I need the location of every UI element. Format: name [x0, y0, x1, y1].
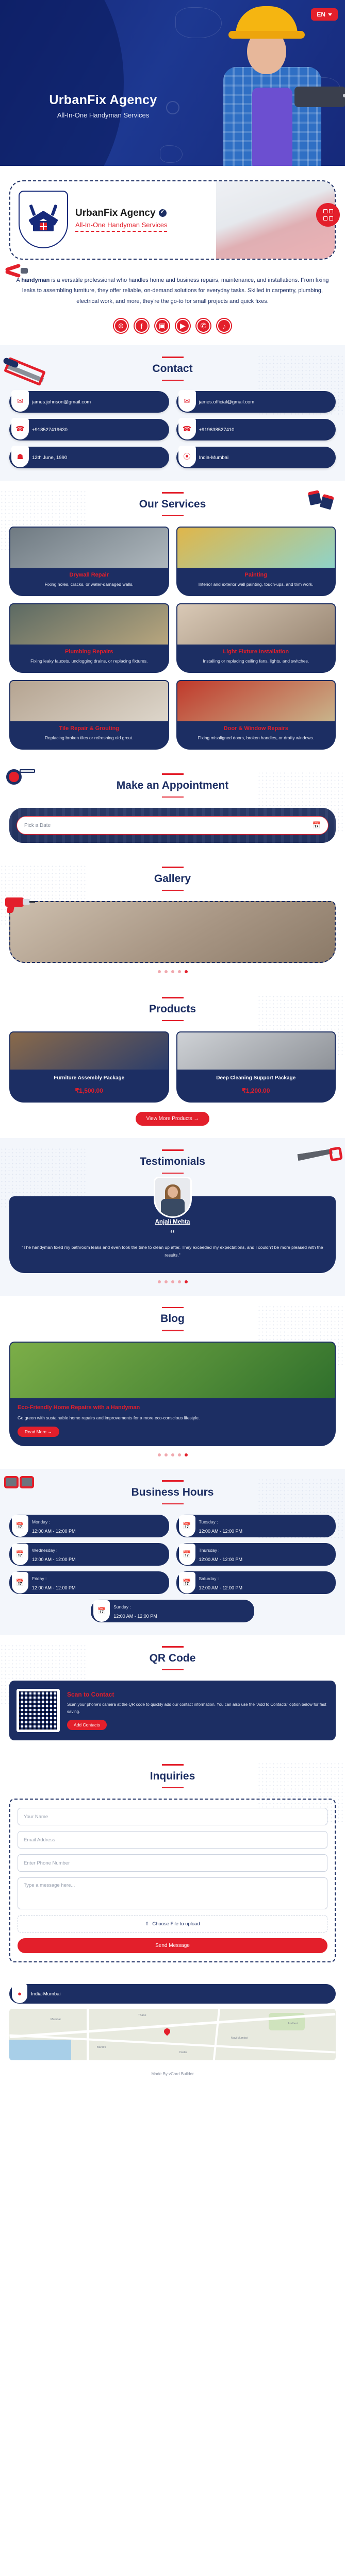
grid-cell-icon [323, 209, 327, 213]
upload-icon: ⇧ [145, 1921, 149, 1927]
chevron-down-icon [328, 13, 332, 16]
product-image [10, 1032, 168, 1070]
hours-day: Wednesday : [32, 1548, 57, 1553]
service-card[interactable]: Painting Interior and exterior wall pain… [176, 527, 336, 596]
services-section: Our Services Drywall Repair Fixing holes… [0, 481, 345, 762]
about-text: A handyman is a versatile professional w… [17, 277, 329, 304]
testimonial-author: Anjali Mehta [20, 1219, 325, 1225]
contact-item-phone-secondary[interactable]: ☎ +919638527410 [176, 419, 336, 440]
map-marker-icon [163, 2027, 172, 2036]
inquiries-heading: Inquiries [9, 1764, 336, 1788]
contact-heading: Contact [9, 357, 336, 381]
service-desc: Interior and exterior wall painting, tou… [182, 581, 331, 588]
hours-day: Monday : [32, 1519, 50, 1524]
grid-cell-icon [323, 216, 327, 221]
hours-row: 📅 Tuesday : 12:00 AM - 12:00 PM [176, 1515, 336, 1537]
business-hours-heading: Business Hours [9, 1480, 336, 1504]
product-name: Deep Cleaning Support Package [182, 1075, 331, 1082]
calendar-clock-icon: 📅 [179, 1515, 195, 1537]
testimonials-pagination[interactable] [9, 1280, 336, 1283]
services-heading: Our Services [9, 492, 336, 516]
profile-card-section: UrbanFix Agency All-In-One Handyman Serv… [0, 166, 345, 268]
facebook-icon[interactable]: f [134, 318, 150, 334]
testimonials-heading: Testimonials [9, 1149, 336, 1174]
contact-item-phone-primary[interactable]: ☎ +918527419630 [9, 419, 169, 440]
hours-time: 12:00 AM - 12:00 PM [199, 1557, 243, 1562]
hero-worker-photo [195, 0, 345, 166]
map-label: Mumbai [51, 2018, 61, 2021]
map-location-label: India-Mumbai [31, 1991, 61, 1997]
services-list: Drywall Repair Fixing holes, cracks, or … [9, 527, 336, 750]
drill-icon [5, 895, 35, 913]
brand-tagline: All-In-One Handyman Services [75, 221, 167, 232]
service-title: Drywall Repair [15, 572, 163, 578]
map-label: Bandra [97, 2046, 106, 2049]
qr-code-image[interactable] [17, 1689, 60, 1732]
quote-icon: “ [20, 1228, 325, 1239]
pagination-dot[interactable] [165, 970, 168, 973]
verified-badge-icon [159, 209, 167, 217]
phone-icon: ☎ [11, 418, 29, 439]
products-list: Furniture Assembly Package ₹1,500.00 Dee… [9, 1031, 336, 1103]
page-title: UrbanFix Agency [0, 93, 206, 108]
calendar-clock-icon: 📅 [12, 1572, 28, 1594]
contact-item-email-primary[interactable]: ✉ james.johnson@gmail.com [9, 391, 169, 413]
date-picker[interactable]: Pick a Date 📅 [17, 816, 328, 835]
whatsapp-icon[interactable]: ✆ [195, 318, 211, 334]
map-label: Navi Mumbai [231, 2037, 248, 2040]
product-image [177, 1032, 335, 1070]
hammer-icon [29, 205, 36, 216]
hours-time: 12:00 AM - 12:00 PM [199, 1585, 243, 1590]
qr-card: Scan to Contact Scan your phone's camera… [9, 1681, 336, 1740]
hero-banner: EN UrbanFix Agency All-In-One Handyman S… [0, 0, 345, 166]
hours-row: 📅 Sunday : 12:00 AM - 12:00 PM [91, 1600, 254, 1622]
service-image [177, 528, 335, 568]
youtube-icon[interactable]: ▶ [175, 318, 191, 334]
pagination-dot-active[interactable] [185, 1280, 188, 1283]
appointment-section: Make an Appointment Pick a Date 📅 [0, 762, 345, 855]
tape-measure-icon [3, 767, 35, 788]
hours-time: 12:00 AM - 12:00 PM [32, 1585, 76, 1590]
pagination-dot[interactable] [165, 1453, 168, 1456]
work-gloves-icon [309, 491, 338, 513]
phone-icon: ☎ [178, 418, 196, 439]
map-label: Dadar [179, 2051, 187, 2054]
pagination-dot[interactable] [158, 1280, 161, 1283]
read-more-button[interactable]: Read More → [18, 1427, 59, 1437]
cake-icon: ☗ [11, 446, 29, 467]
service-title: Light Fixture Installation [182, 649, 331, 655]
pagination-dot[interactable] [171, 970, 174, 973]
language-selector[interactable]: EN [311, 8, 338, 21]
brand-name-row: UrbanFix Agency [75, 208, 167, 219]
send-message-button[interactable]: Send Message [18, 1938, 327, 1953]
map-label: Thane [138, 2014, 146, 2017]
service-image [177, 604, 335, 645]
instagram-icon[interactable]: ▣ [154, 318, 170, 334]
location-pin-icon: ● [12, 1984, 27, 2003]
pagination-dot[interactable] [171, 1280, 174, 1283]
pagination-dot[interactable] [171, 1453, 174, 1456]
calendar-icon[interactable]: 📅 [313, 821, 321, 829]
calendar-clock-icon: 📅 [179, 1572, 195, 1594]
location-pin-icon: ⦿ [178, 446, 196, 467]
avatar [154, 1177, 192, 1218]
product-card[interactable]: Deep Cleaning Support Package ₹1,200.00 [176, 1031, 336, 1103]
map-embed[interactable]: Mumbai Thane Navi Mumbai Bandra Dadar An… [9, 2009, 336, 2060]
brand-logo [19, 191, 68, 248]
pagination-dot[interactable] [158, 970, 161, 973]
qr-title: Scan to Contact [67, 1691, 328, 1698]
hours-day: Sunday : [113, 1604, 131, 1609]
hours-row: 📅 Thursday : 12:00 AM - 12:00 PM [176, 1543, 336, 1566]
pliers-icon [5, 265, 28, 278]
mail-icon: ✉ [11, 390, 29, 412]
hours-row: 📅 Monday : 12:00 AM - 12:00 PM [9, 1515, 169, 1537]
service-image [177, 681, 335, 721]
product-price: ₹1,200.00 [182, 1087, 331, 1094]
hours-day: Friday : [32, 1576, 46, 1581]
about-text-block: A handyman is a versatile professional w… [0, 268, 345, 310]
calendar-clock-icon: 📅 [12, 1515, 28, 1537]
pagination-dot[interactable] [178, 1453, 181, 1456]
hero-subtitle: All-In-One Handyman Services [0, 111, 206, 119]
hours-row: 📅 Friday : 12:00 AM - 12:00 PM [9, 1571, 169, 1594]
wrench-icon [51, 205, 57, 216]
pagination-dot-active[interactable] [185, 1453, 188, 1456]
qr-section: QR Code Scan to Contact Scan your phone'… [0, 1635, 345, 1753]
add-contacts-button[interactable]: Add Contacts [67, 1720, 107, 1730]
calendar-clock-icon: 📅 [93, 1600, 110, 1622]
inquiries-section: Inquiries Your Name Email Address Enter … [0, 1753, 345, 1975]
phone-input[interactable]: Enter Phone Number [18, 1854, 327, 1872]
pagination-dot[interactable] [178, 970, 181, 973]
pagination-dot[interactable] [158, 1453, 161, 1456]
contact-list: ✉ james.johnson@gmail.com ✉ james.offici… [9, 391, 336, 468]
name-input[interactable]: Your Name [18, 1808, 327, 1825]
map-label: Andheri [288, 2022, 298, 2025]
hero-decor-blob [160, 145, 183, 163]
mail-icon: ✉ [178, 390, 196, 412]
service-image [10, 681, 168, 721]
hours-time: 12:00 AM - 12:00 PM [32, 1557, 76, 1562]
handsaw-icon [298, 1145, 342, 1166]
hero-swirl [0, 0, 124, 166]
tiktok-icon[interactable]: ♪ [216, 318, 232, 334]
inquiry-form: Your Name Email Address Enter Phone Numb… [9, 1799, 336, 1962]
service-card[interactable]: Drywall Repair Fixing holes, cracks, or … [9, 527, 169, 596]
file-upload-field[interactable]: ⇧ Choose File to upload [18, 1915, 327, 1933]
profile-card: UrbanFix Agency All-In-One Handyman Serv… [9, 180, 336, 260]
service-image [10, 604, 168, 645]
service-card[interactable]: Tile Repair & Grouting Replacing broken … [9, 680, 169, 750]
product-card[interactable]: Furniture Assembly Package ₹1,500.00 [9, 1031, 169, 1103]
product-name: Furniture Assembly Package [14, 1075, 164, 1082]
hours-row: 📅 Wednesday : 12:00 AM - 12:00 PM [9, 1543, 169, 1566]
hours-row: 📅 Saturday : 12:00 AM - 12:00 PM [176, 1571, 336, 1594]
products-section: Products Furniture Assembly Package ₹1,5… [0, 986, 345, 1138]
qr-description: Scan your phone's camera at the QR code … [67, 1701, 328, 1715]
service-desc: Fixing misaligned doors, broken handles,… [182, 734, 331, 741]
contact-section: Contact ✉ james.johnson@gmail.com ✉ jame… [0, 345, 345, 481]
contact-item-email-secondary[interactable]: ✉ james.official@gmail.com [176, 391, 336, 413]
blog-post-card[interactable]: Eco-Friendly Home Repairs with a Handyma… [9, 1342, 336, 1446]
service-title: Door & Window Repairs [182, 725, 331, 732]
hours-time: 12:00 AM - 12:00 PM [32, 1529, 76, 1534]
service-card[interactable]: Light Fixture Installation Installing or… [176, 603, 336, 673]
blog-section: Blog Eco-Friendly Home Repairs with a Ha… [0, 1296, 345, 1469]
hero-text: UrbanFix Agency All-In-One Handyman Serv… [0, 93, 206, 119]
pagination-dot-active[interactable] [185, 970, 188, 973]
message-textarea[interactable]: Type a message here... [18, 1877, 327, 1909]
hours-time: 12:00 AM - 12:00 PM [199, 1529, 243, 1534]
service-image [10, 528, 168, 568]
menu-grid-button[interactable] [316, 203, 340, 227]
business-hours-section: Business Hours 📅 Monday : 12:00 AM - 12:… [0, 1469, 345, 1635]
date-placeholder: Pick a Date [24, 823, 51, 828]
view-more-products-button[interactable]: View More Products → [136, 1112, 209, 1126]
testimonials-section: Testimonials Anjali Mehta “ "The handyma… [0, 1138, 345, 1296]
website-icon[interactable]: ⊕ [113, 318, 129, 334]
gallery-image[interactable] [9, 901, 336, 963]
product-price: ₹1,500.00 [14, 1087, 164, 1094]
gallery-heading: Gallery [9, 867, 336, 891]
hours-day: Tuesday : [199, 1519, 218, 1524]
service-desc: Replacing broken tiles or refreshing old… [15, 734, 163, 741]
blog-image [10, 1343, 335, 1398]
appointment-box: Pick a Date 📅 [9, 808, 336, 843]
qr-heading: QR Code [9, 1646, 336, 1670]
social-links: ⊕ f ▣ ▶ ✆ ♪ [0, 310, 345, 345]
service-desc: Fixing leaky faucets, unclogging drains,… [15, 657, 163, 665]
contact-item-birthday[interactable]: ☗ 12th June, 1990 [9, 447, 169, 468]
blog-heading: Blog [9, 1307, 336, 1331]
brand-name: UrbanFix Agency [75, 208, 156, 219]
calendar-clock-icon: 📅 [179, 1544, 195, 1565]
business-hours-list: 📅 Monday : 12:00 AM - 12:00 PM 📅 Tuesday… [9, 1515, 336, 1622]
email-input[interactable]: Email Address [18, 1831, 327, 1849]
grid-cell-icon [329, 216, 333, 221]
service-card[interactable]: Door & Window Repairs Fixing misaligned … [176, 680, 336, 750]
service-desc: Installing or replacing ceiling fans, li… [182, 657, 331, 665]
hours-time: 12:00 AM - 12:00 PM [113, 1614, 157, 1619]
hours-day: Thursday : [199, 1548, 220, 1553]
service-title: Painting [182, 572, 331, 578]
calendar-clock-icon: 📅 [12, 1544, 28, 1565]
gallery-pagination[interactable] [9, 970, 336, 973]
service-desc: Fixing holes, cracks, or water-damaged w… [15, 581, 163, 588]
service-title: Plumbing Repairs [15, 649, 163, 655]
language-label: EN [317, 11, 325, 18]
appointment-heading: Make an Appointment [9, 773, 336, 798]
vcard-page: EN UrbanFix Agency All-In-One Handyman S… [0, 0, 345, 2084]
pagination-dot[interactable] [178, 1280, 181, 1283]
map-section: ● India-Mumbai Mumbai Thane Navi Mumbai … [0, 1975, 345, 2065]
footer: Made By vCard Builder [0, 2065, 345, 2084]
blog-post-excerpt: Go green with sustainable home repairs a… [18, 1414, 327, 1421]
pagination-dot[interactable] [165, 1280, 168, 1283]
testimonial-text: "The handyman fixed my bathroom leaks an… [20, 1244, 325, 1260]
service-title: Tile Repair & Grouting [15, 725, 163, 732]
hours-day: Saturday : [199, 1576, 219, 1581]
service-card[interactable]: Plumbing Repairs Fixing leaky faucets, u… [9, 603, 169, 673]
blog-post-title: Eco-Friendly Home Repairs with a Handyma… [18, 1404, 327, 1411]
products-heading: Products [9, 997, 336, 1021]
grid-cell-icon [329, 209, 333, 213]
map-location-pill[interactable]: ● India-Mumbai [9, 1984, 336, 2004]
safety-glasses-icon [4, 1476, 38, 1492]
gallery-section: Gallery [0, 855, 345, 986]
contact-item-location[interactable]: ⦿ India-Mumbai [176, 447, 336, 468]
blog-pagination[interactable] [9, 1453, 336, 1456]
